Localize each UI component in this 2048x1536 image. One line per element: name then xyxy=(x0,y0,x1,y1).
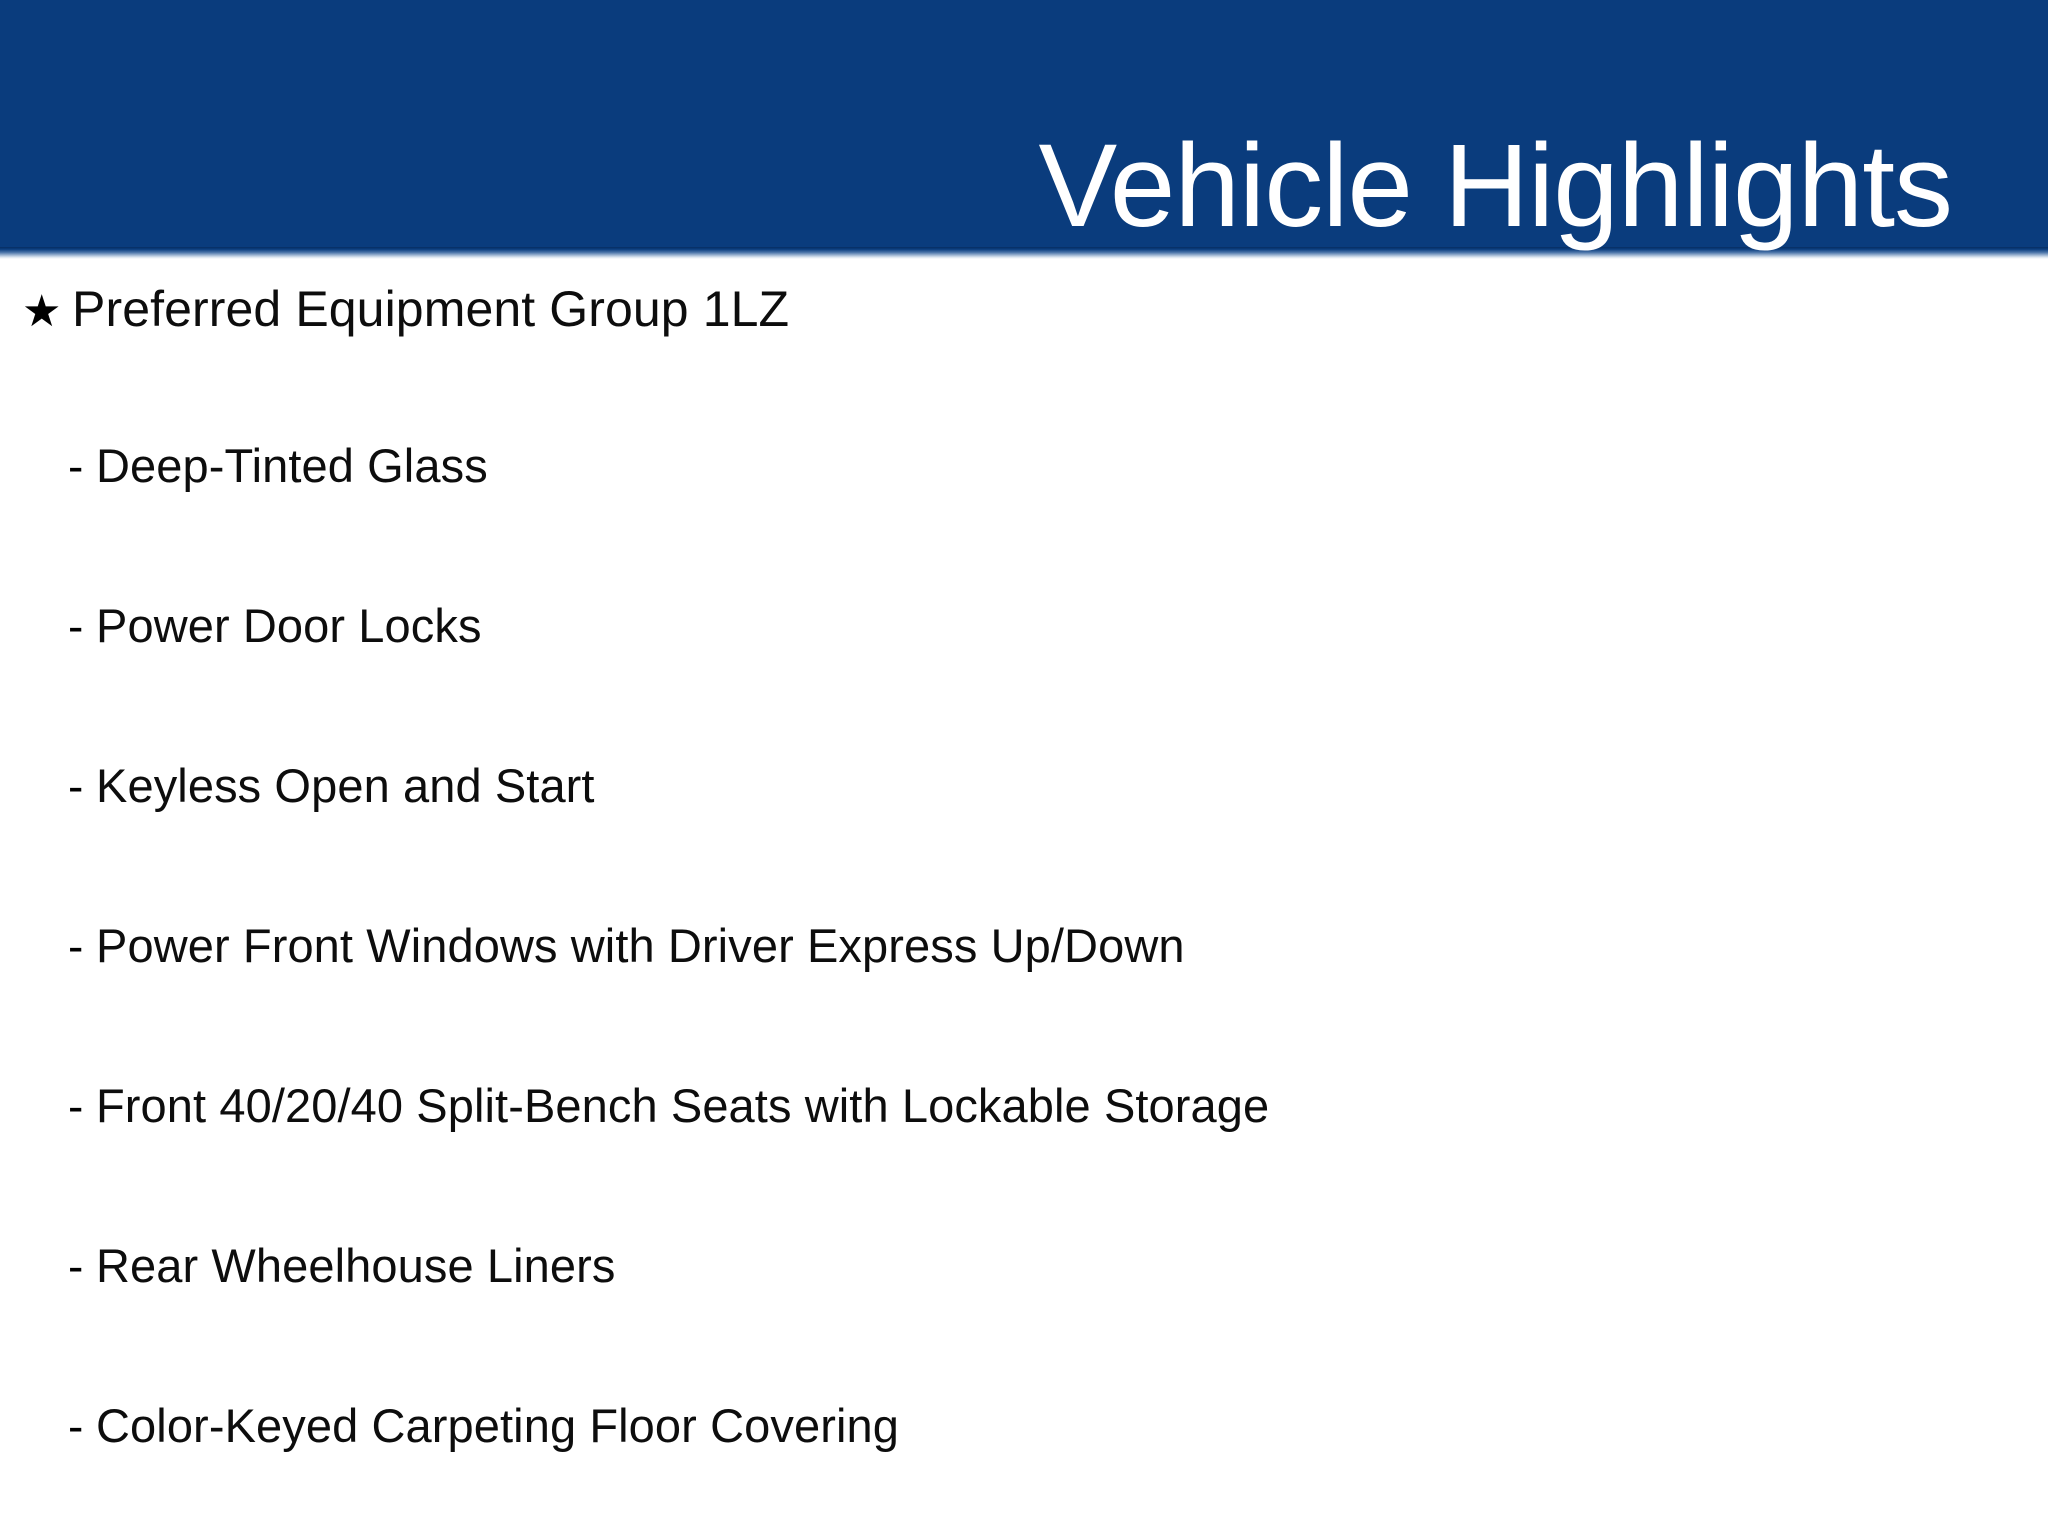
list-item: -Power Front Windows with Driver Express… xyxy=(0,921,2048,970)
list-item: -Deep-Tinted Glass xyxy=(0,441,2048,490)
list-item-label: Keyless Open and Start xyxy=(96,761,595,810)
dash-bullet-icon: - xyxy=(68,1243,96,1289)
list-item-label: Rear Wheelhouse Liners xyxy=(96,1241,615,1290)
list-item-label: Power Door Locks xyxy=(96,601,482,650)
list-item-primary: ★Preferred Equipment Group 1LZ xyxy=(0,283,2022,336)
list-item-label: Preferred Equipment Group 1LZ xyxy=(72,283,789,336)
list-item: -Keyless Open and Start xyxy=(0,761,2048,810)
list-item: -Front 40/20/40 Split-Bench Seats with L… xyxy=(0,1081,2048,1130)
list-item: -Rear Wheelhouse Liners xyxy=(0,1241,2048,1290)
highlights-list: ★Preferred Equipment Group 1LZ-Deep-Tint… xyxy=(0,259,2048,1536)
page-title: Vehicle Highlights xyxy=(1039,127,1952,245)
list-item-label: Deep-Tinted Glass xyxy=(96,441,488,490)
dash-bullet-icon: - xyxy=(68,763,96,809)
dash-bullet-icon: - xyxy=(68,1403,96,1449)
list-item-label: Power Front Windows with Driver Express … xyxy=(96,921,1185,970)
list-item-label: Color-Keyed Carpeting Floor Covering xyxy=(96,1401,899,1450)
dash-bullet-icon: - xyxy=(68,923,96,969)
dash-bullet-icon: - xyxy=(68,603,96,649)
dash-bullet-icon: - xyxy=(68,443,96,489)
list-item-label: Front 40/20/40 Split-Bench Seats with Lo… xyxy=(96,1081,1269,1130)
dash-bullet-icon: - xyxy=(68,1083,96,1129)
list-item: -Power Door Locks xyxy=(0,601,2048,650)
star-bullet-icon: ★ xyxy=(22,290,72,334)
list-item: -Color-Keyed Carpeting Floor Covering xyxy=(0,1401,2048,1450)
slide-vehicle-highlights: Vehicle Highlights ★Preferred Equipment … xyxy=(0,0,2048,1536)
